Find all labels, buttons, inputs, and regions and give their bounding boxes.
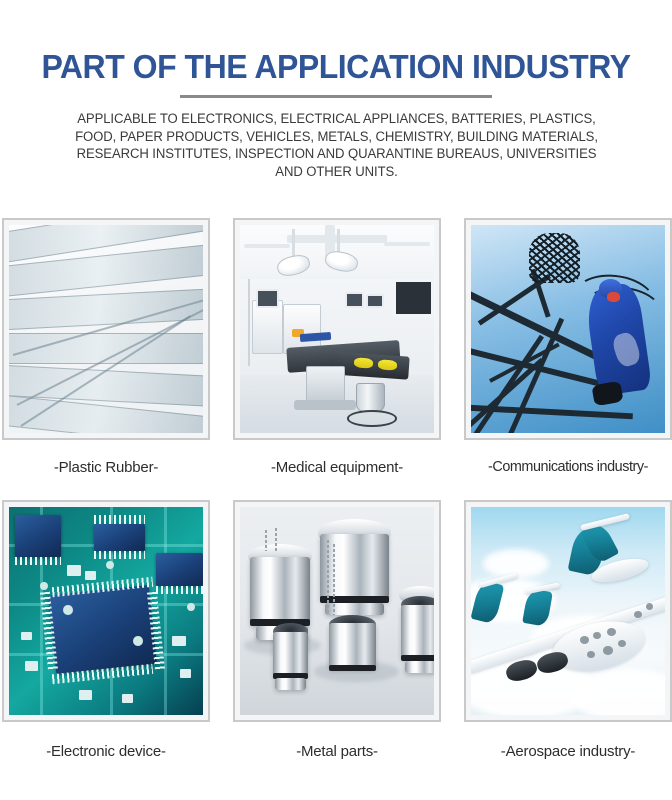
image-frame bbox=[2, 500, 210, 722]
plastic-rubber-photo bbox=[9, 225, 203, 433]
industry-gallery: -Plastic Rubber- bbox=[0, 218, 672, 760]
gallery-item-caption: -Medical equipment- bbox=[233, 459, 441, 476]
gallery-item-caption: -Communications industry- bbox=[464, 459, 672, 475]
image-frame bbox=[233, 500, 441, 722]
page-header: PART OF THE APPLICATION INDUSTRY APPLICA… bbox=[0, 0, 672, 180]
electronic-device-photo bbox=[9, 507, 203, 715]
communications-industry-photo bbox=[471, 225, 665, 433]
title-divider bbox=[180, 95, 492, 98]
image-frame bbox=[464, 218, 672, 440]
gallery-item-aerospace-industry[interactable]: -Aerospace industry- bbox=[464, 500, 672, 760]
page-subtitle: APPLICABLE TO ELECTRONICS, ELECTRICAL AP… bbox=[69, 110, 603, 180]
aerospace-industry-photo bbox=[471, 507, 665, 715]
image-frame bbox=[2, 218, 210, 440]
gallery-item-plastic-rubber[interactable]: -Plastic Rubber- bbox=[2, 218, 210, 476]
gallery-item-electronic-device[interactable]: -Electronic device- bbox=[2, 500, 210, 760]
gallery-item-medical-equipment[interactable]: -Medical equipment- bbox=[233, 218, 441, 476]
gallery-item-communications-industry[interactable]: -Communications industry- bbox=[464, 218, 672, 476]
page-title: PART OF THE APPLICATION INDUSTRY bbox=[10, 48, 662, 86]
gallery-item-caption: -Electronic device- bbox=[2, 743, 210, 760]
gallery-row: -Electronic device- bbox=[0, 500, 672, 760]
application-industry-page: PART OF THE APPLICATION INDUSTRY APPLICA… bbox=[0, 0, 672, 800]
gallery-item-caption: -Metal parts- bbox=[233, 743, 441, 760]
image-frame bbox=[233, 218, 441, 440]
gallery-item-metal-parts[interactable]: -Metal parts- bbox=[233, 500, 441, 760]
image-frame bbox=[464, 500, 672, 722]
metal-parts-photo bbox=[240, 507, 434, 715]
gallery-row: -Plastic Rubber- bbox=[0, 218, 672, 476]
gallery-item-caption: -Aerospace industry- bbox=[464, 743, 672, 760]
medical-equipment-photo bbox=[240, 225, 434, 433]
gallery-item-caption: -Plastic Rubber- bbox=[2, 459, 210, 476]
